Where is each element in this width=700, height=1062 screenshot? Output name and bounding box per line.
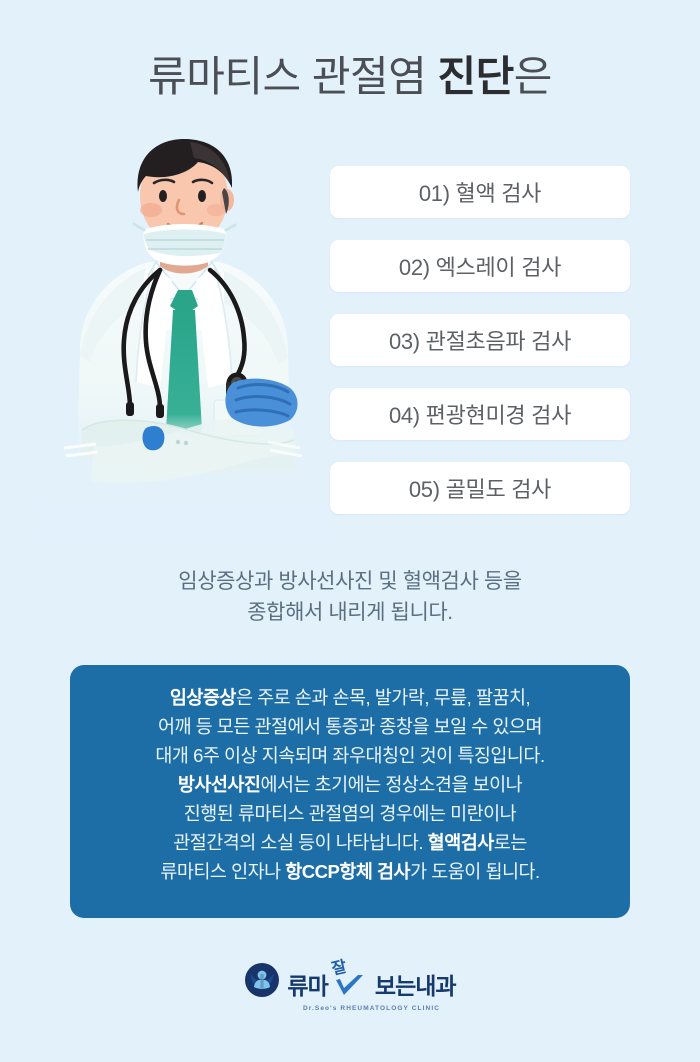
test-card-05[interactable]: 05) 골밀도 검사: [330, 462, 630, 514]
info-text-5: 류마티스 인자나: [160, 861, 285, 882]
test-card-03[interactable]: 03) 관절초음파 검사: [330, 314, 630, 366]
clinic-logo-tagline: Dr.Seo's RHEUMATOLOGY CLINIC: [287, 1005, 455, 1012]
test-card-01[interactable]: 01) 혈액 검사: [330, 166, 630, 218]
page-title-light-prefix: 류마티스 관절염: [148, 53, 437, 100]
info-text-6: 가 도움이 됩니다.: [410, 861, 540, 882]
info-bold-blood-test: 혈액검사: [428, 832, 494, 853]
info-line-2: 어깨 등 모든 관절에서 통증과 종창을 보일 수 있으며: [84, 712, 616, 741]
test-card-04[interactable]: 04) 편광현미경 검사: [330, 388, 630, 440]
page-title-light-suffix: 은: [514, 53, 552, 100]
subtitle-line-2: 종합해서 내리게 됩니다.: [0, 597, 700, 628]
info-line-4: 방사선사진에서는 초기에는 정상소견을 보이나: [84, 770, 616, 799]
clinic-logo-icon: [244, 962, 280, 998]
info-text-1: 은 주로 손과 손목, 발가락, 무릎, 팔꿈치,: [236, 687, 530, 708]
info-bold-radiograph: 방사선사진: [178, 774, 261, 795]
info-line-7: 류마티스 인자나 항CCP항체 검사가 도움이 됩니다.: [84, 857, 616, 886]
page-title-bold: 진단: [437, 53, 513, 100]
test-card-02[interactable]: 02) 엑스레이 검사: [330, 240, 630, 292]
info-line-1: 임상증상은 주로 손과 손목, 발가락, 무릎, 팔꿈치,: [84, 683, 616, 712]
subtitle-line-1: 임상증상과 방사선사진 및 혈액검사 등을: [0, 566, 700, 597]
info-text-3: 관절간격의 소실 등이 나타납니다.: [173, 832, 427, 853]
checkmark-icon: [334, 974, 364, 998]
info-line-3: 대개 6주 이상 지속되며 좌우대칭인 것이 특징입니다.: [84, 741, 616, 770]
page-title: 류마티스 관절염 진단은: [0, 52, 700, 102]
clinic-logo-text: 류마____보는내과: [287, 975, 455, 998]
info-bold-clinical-symptoms: 임상증상: [170, 687, 236, 708]
info-line-5: 진행된 류마티스 관절염의 경우에는 미란이나: [84, 799, 616, 828]
info-text-2: 에서는 초기에는 정상소견을 보이나: [260, 774, 522, 795]
subtitle: 임상증상과 방사선사진 및 혈액검사 등을 종합해서 내리게 됩니다.: [0, 566, 700, 628]
info-line-6: 관절간격의 소실 등이 나타납니다. 혈액검사로는: [84, 828, 616, 857]
test-list: 01) 혈액 검사 02) 엑스레이 검사 03) 관절초음파 검사 04) 편…: [330, 166, 630, 514]
infographic-page: 류마티스 관절염 진단은: [0, 0, 700, 1062]
info-box: 임상증상은 주로 손과 손목, 발가락, 무릎, 팔꿈치, 어깨 등 모든 관절…: [70, 665, 630, 918]
clinic-logo-word-prefix: 류마: [287, 973, 327, 999]
doctor-illustration: [38, 130, 328, 540]
clinic-logo-word-suffix: 보는내과: [375, 973, 456, 999]
info-text-4: 로는: [494, 832, 527, 853]
clinic-logo[interactable]: 류마____보는내과 잘 Dr.Seo's RHEUMATOLOGY CLINI…: [0, 952, 700, 1008]
info-bold-anti-ccp: 항CCP항체 검사: [285, 861, 410, 882]
